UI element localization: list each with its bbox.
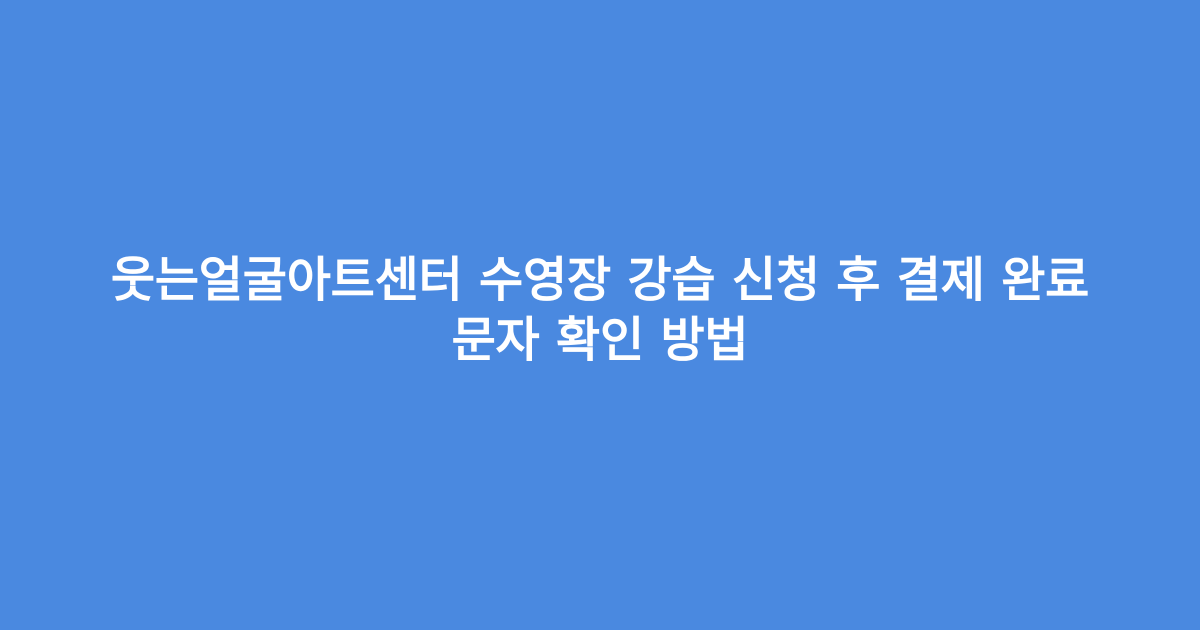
title-block: 웃는얼굴아트센터 수영장 강습 신청 후 결제 완료 문자 확인 방법 — [50, 250, 1150, 370]
page-title: 웃는얼굴아트센터 수영장 강습 신청 후 결제 완료 문자 확인 방법 — [70, 250, 1130, 370]
og-share-card: 웃는얼굴아트센터 수영장 강습 신청 후 결제 완료 문자 확인 방법 — [0, 0, 1200, 630]
